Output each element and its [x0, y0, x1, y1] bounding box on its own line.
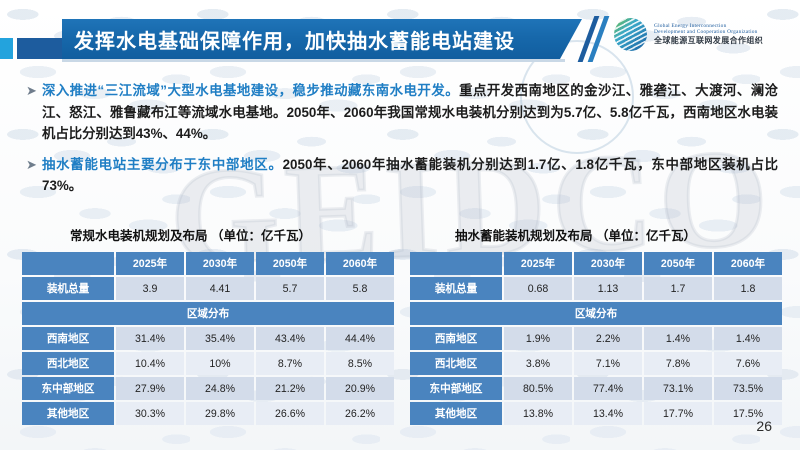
column-header: 2030年: [186, 252, 254, 275]
table-cell: 5.8: [326, 277, 394, 300]
table-cell: 3.8%: [504, 352, 572, 375]
table-cell: 24.8%: [186, 377, 254, 400]
table-cell: 73.1%: [644, 377, 712, 400]
table-cell: 7.8%: [644, 352, 712, 375]
table-cell: 8.7%: [256, 352, 324, 375]
organization-logo: Global Energy Interconnection Developmen…: [614, 18, 763, 51]
table-row: 东中部地区 27.9% 24.8% 21.2% 20.9%: [22, 377, 394, 400]
row-header: 西南地区: [410, 327, 502, 350]
section-header: 区域分布: [410, 302, 782, 325]
table-cell: 7.1%: [574, 352, 642, 375]
table-cell: 31.4%: [116, 327, 184, 350]
header-title-underline: [62, 59, 565, 62]
table-cell: 21.2%: [256, 377, 324, 400]
row-header: 西南地区: [22, 327, 114, 350]
table-cell: 5.7: [256, 277, 324, 300]
column-header: 2050年: [256, 252, 324, 275]
table-row: 西北地区 3.8% 7.1% 7.8% 7.6%: [410, 352, 782, 375]
table-cell: 13.4%: [574, 402, 642, 425]
table-cell: 1.13: [574, 277, 642, 300]
table-row: 装机总量 3.9 4.41 5.7 5.8: [22, 277, 394, 300]
row-header: 西北地区: [22, 352, 114, 375]
slide-header: 发挥水电基础保障作用，加快抽水蓄能电站建设 Global Energy Inte…: [0, 0, 800, 72]
table-cell: 17.7%: [644, 402, 712, 425]
column-header: 2060年: [326, 252, 394, 275]
section-header: 区域分布: [22, 302, 394, 325]
table-row: 西北地区 10.4% 10% 8.7% 8.5%: [22, 352, 394, 375]
page-number: 26: [756, 418, 772, 434]
bullet-text: 深入推进“三江流域”大型水电基地建设，稳步推动藏东南水电开发。重点开发西南地区的…: [42, 80, 778, 145]
column-header: 2060年: [714, 252, 782, 275]
table-cell: 44.4%: [326, 327, 394, 350]
table-cell: 27.9%: [116, 377, 184, 400]
row-header: 东中部地区: [410, 377, 502, 400]
table-cell: 3.9: [116, 277, 184, 300]
table-row-header: 2025年 2030年 2050年 2060年: [22, 252, 394, 275]
left-table-corner-cell: [22, 252, 114, 275]
bullet-highlight-text: 抽水蓄能电站主要分布于东中部地区。: [42, 157, 283, 172]
column-header: 2025年: [116, 252, 184, 275]
table-row-header: 2025年 2030年 2050年 2060年: [410, 252, 782, 275]
table-cell: 26.6%: [256, 402, 324, 425]
table-cell: 73.5%: [714, 377, 782, 400]
table-cell: 8.5%: [326, 352, 394, 375]
table-cell: 26.2%: [326, 402, 394, 425]
row-header: 装机总量: [410, 277, 502, 300]
column-header: 2050年: [644, 252, 712, 275]
table-row: 装机总量 0.68 1.13 1.7 1.8: [410, 277, 782, 300]
table-cell: 43.4%: [256, 327, 324, 350]
bullet-item: ➤ 抽水蓄能电站主要分布于东中部地区。2050年、2060年抽水蓄能装机分别达到…: [26, 154, 778, 197]
table-cell: 7.6%: [714, 352, 782, 375]
bullet-arrow-icon: ➤: [26, 154, 42, 175]
table-cell: 1.4%: [644, 327, 712, 350]
table-cell: 1.7: [644, 277, 712, 300]
table-row: 西南地区 1.9% 2.2% 1.4% 1.4%: [410, 327, 782, 350]
table-cell: 77.4%: [574, 377, 642, 400]
column-header: 2025年: [504, 252, 572, 275]
right-data-table: 2025年 2030年 2050年 2060年 装机总量 0.68 1.13 1…: [408, 250, 784, 427]
bullet-text: 抽水蓄能电站主要分布于东中部地区。2050年、2060年抽水蓄能装机分别达到1.…: [42, 154, 778, 197]
table-cell: 20.9%: [326, 377, 394, 400]
header-title-bar: 发挥水电基础保障作用，加快抽水蓄能电站建设: [62, 19, 582, 59]
table-cell: 10.4%: [116, 352, 184, 375]
logo-english-line-2: Development and Cooperation Organization: [654, 29, 763, 35]
table-cell: 4.41: [186, 277, 254, 300]
row-header: 装机总量: [22, 277, 114, 300]
bullet-list: ➤ 深入推进“三江流域”大型水电基地建设，稳步推动藏东南水电开发。重点开发西南地…: [26, 80, 778, 206]
header-accent-light-block: [0, 38, 13, 59]
bullet-highlight-text: 深入推进“三江流域”大型水电基地建设，稳步推动藏东南水电开发。: [42, 83, 459, 98]
row-header: 其他地区: [410, 402, 502, 425]
column-header: 2030年: [574, 252, 642, 275]
left-table-title: 常规水电装机规划及布局 （单位：亿千瓦）: [70, 225, 311, 244]
row-header: 西北地区: [410, 352, 502, 375]
page-title: 发挥水电基础保障作用，加快抽水蓄能电站建设: [74, 25, 515, 54]
header-accent-dark-block: [17, 38, 62, 59]
table-cell: 10%: [186, 352, 254, 375]
table-cell: 1.8: [714, 277, 782, 300]
bullet-item: ➤ 深入推进“三江流域”大型水电基地建设，稳步推动藏东南水电开发。重点开发西南地…: [26, 80, 778, 145]
bullet-arrow-icon: ➤: [26, 80, 42, 101]
table-row: 西南地区 31.4% 35.4% 43.4% 44.4%: [22, 327, 394, 350]
table-cell: 13.8%: [504, 402, 572, 425]
row-header: 东中部地区: [22, 377, 114, 400]
logo-chinese-line: 全球能源互联网发展合作组织: [654, 37, 763, 46]
globe-icon: [614, 18, 647, 51]
table-cell: 29.8%: [186, 402, 254, 425]
table-section-row: 区域分布: [22, 302, 394, 325]
table-cell: 1.4%: [714, 327, 782, 350]
right-table-corner-cell: [410, 252, 502, 275]
table-row: 其他地区 30.3% 29.8% 26.6% 26.2%: [22, 402, 394, 425]
right-table-title: 抽水蓄能装机规划及布局 （单位：亿千瓦）: [455, 225, 696, 244]
table-row: 东中部地区 80.5% 77.4% 73.1% 73.5%: [410, 377, 782, 400]
table-cell: 35.4%: [186, 327, 254, 350]
left-data-table: 2025年 2030年 2050年 2060年 装机总量 3.9 4.41 5.…: [20, 250, 396, 427]
table-cell: 80.5%: [504, 377, 572, 400]
table-section-row: 区域分布: [410, 302, 782, 325]
logo-text-block: Global Energy Interconnection Developmen…: [654, 23, 763, 46]
table-cell: 30.3%: [116, 402, 184, 425]
slide-root: GEIDCO 发挥水电基础保障作用，加快抽水蓄能电站建设 Global Ener…: [0, 0, 800, 450]
row-header: 其他地区: [22, 402, 114, 425]
table-cell: 2.2%: [574, 327, 642, 350]
table-cell: 0.68: [504, 277, 572, 300]
table-row: 其他地区 13.8% 13.4% 17.7% 17.5%: [410, 402, 782, 425]
table-cell: 1.9%: [504, 327, 572, 350]
